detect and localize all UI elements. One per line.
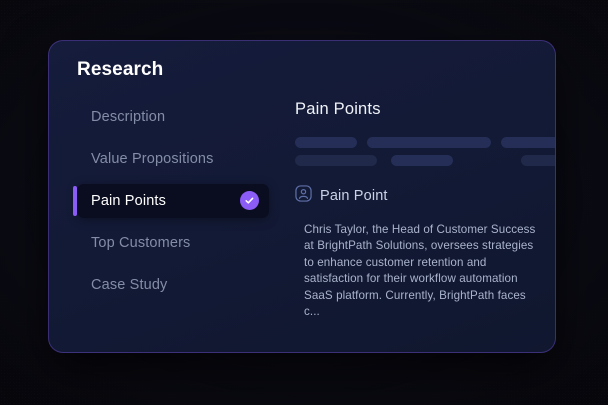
card-body: Description Value Propositions Pain Poin…	[77, 98, 533, 321]
sidebar-item-description[interactable]: Description	[77, 100, 269, 134]
pain-point-description: Chris Taylor, the Head of Customer Succe…	[295, 222, 543, 321]
page-title: Research	[77, 59, 533, 82]
panel-title: Pain Points	[295, 100, 556, 120]
placeholder-bar	[521, 155, 556, 166]
sidebar-item-label: Case Study	[91, 277, 269, 293]
detail-panel: Pain Points	[269, 98, 556, 321]
placeholder-bar	[367, 137, 491, 148]
placeholder-row	[295, 155, 556, 166]
screen: Research Description Value Propositions …	[0, 0, 608, 405]
pain-point-header: Pain Point	[295, 185, 556, 207]
sidebar-item-label: Value Propositions	[91, 151, 269, 167]
sidebar-item-label: Description	[91, 109, 269, 125]
pain-point-label: Pain Point	[320, 188, 388, 204]
content-placeholder	[295, 137, 556, 166]
research-card: Research Description Value Propositions …	[48, 40, 556, 353]
sidebar-item-label: Top Customers	[91, 235, 269, 251]
sidebar-item-case-study[interactable]: Case Study	[77, 268, 269, 302]
user-icon	[295, 185, 312, 207]
section-nav: Description Value Propositions Pain Poin…	[77, 98, 269, 321]
sidebar-item-value-propositions[interactable]: Value Propositions	[77, 142, 269, 176]
placeholder-bar	[295, 155, 377, 166]
sidebar-item-pain-points[interactable]: Pain Points	[77, 184, 269, 218]
placeholder-bar	[295, 137, 357, 148]
placeholder-bar	[501, 137, 556, 148]
sidebar-item-top-customers[interactable]: Top Customers	[77, 226, 269, 260]
placeholder-row	[295, 137, 556, 148]
placeholder-bar	[391, 155, 453, 166]
check-icon	[240, 191, 259, 210]
sidebar-item-label: Pain Points	[91, 193, 232, 209]
active-indicator-bar	[73, 186, 77, 216]
